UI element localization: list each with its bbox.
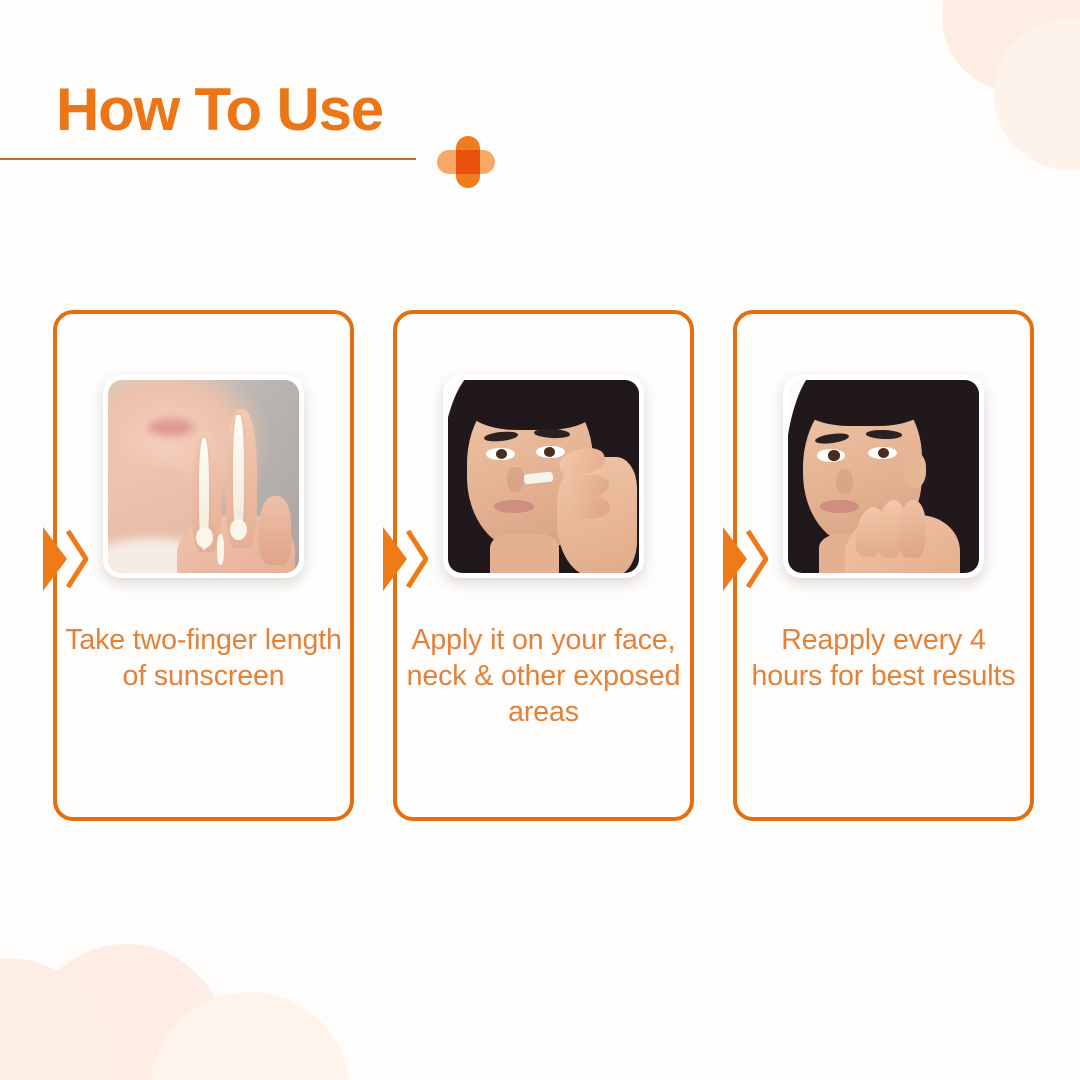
- woman-touching-jawline-photo: [788, 380, 979, 573]
- decorative-blob-top-right-2: [994, 18, 1080, 170]
- step-card-3[interactable]: Reapply every 4 hours for best results: [733, 310, 1034, 821]
- arrow-right-icon: [42, 519, 88, 599]
- woman-applying-cream-to-cheek-photo: [448, 380, 639, 573]
- step-caption-3: Reapply every 4 hours for best results: [745, 622, 1022, 694]
- step-card-1[interactable]: Take two-finger length of sunscreen: [53, 310, 354, 821]
- plus-mark-icon: [437, 136, 495, 188]
- two-fingers-with-sunscreen-photo: [108, 380, 299, 573]
- step-image-frame-3: [783, 375, 984, 578]
- decorative-blob-bottom-left-1: [26, 944, 226, 1080]
- title-divider: [0, 158, 416, 160]
- decorative-blob-bottom-left-3: [150, 992, 350, 1080]
- decorative-blob-bottom-left-2: [0, 958, 108, 1080]
- step-image-frame-1: [103, 375, 304, 578]
- plus-horizontal-bar: [437, 150, 495, 174]
- page-title: How To Use: [56, 80, 383, 140]
- step-caption-1: Take two-finger length of sunscreen: [65, 622, 342, 694]
- arrow-right-icon: [722, 519, 768, 599]
- step-image-frame-2: [443, 375, 644, 578]
- arrow-right-icon: [382, 519, 428, 599]
- steps-row: Take two-finger length of sunscreen: [53, 310, 1034, 821]
- decorative-blob-top-right-1: [942, 0, 1080, 92]
- step-caption-2: Apply it on your face, neck & other expo…: [405, 622, 682, 731]
- how-to-use-poster: How To Use: [0, 0, 1080, 1080]
- step-card-2[interactable]: Apply it on your face, neck & other expo…: [393, 310, 694, 821]
